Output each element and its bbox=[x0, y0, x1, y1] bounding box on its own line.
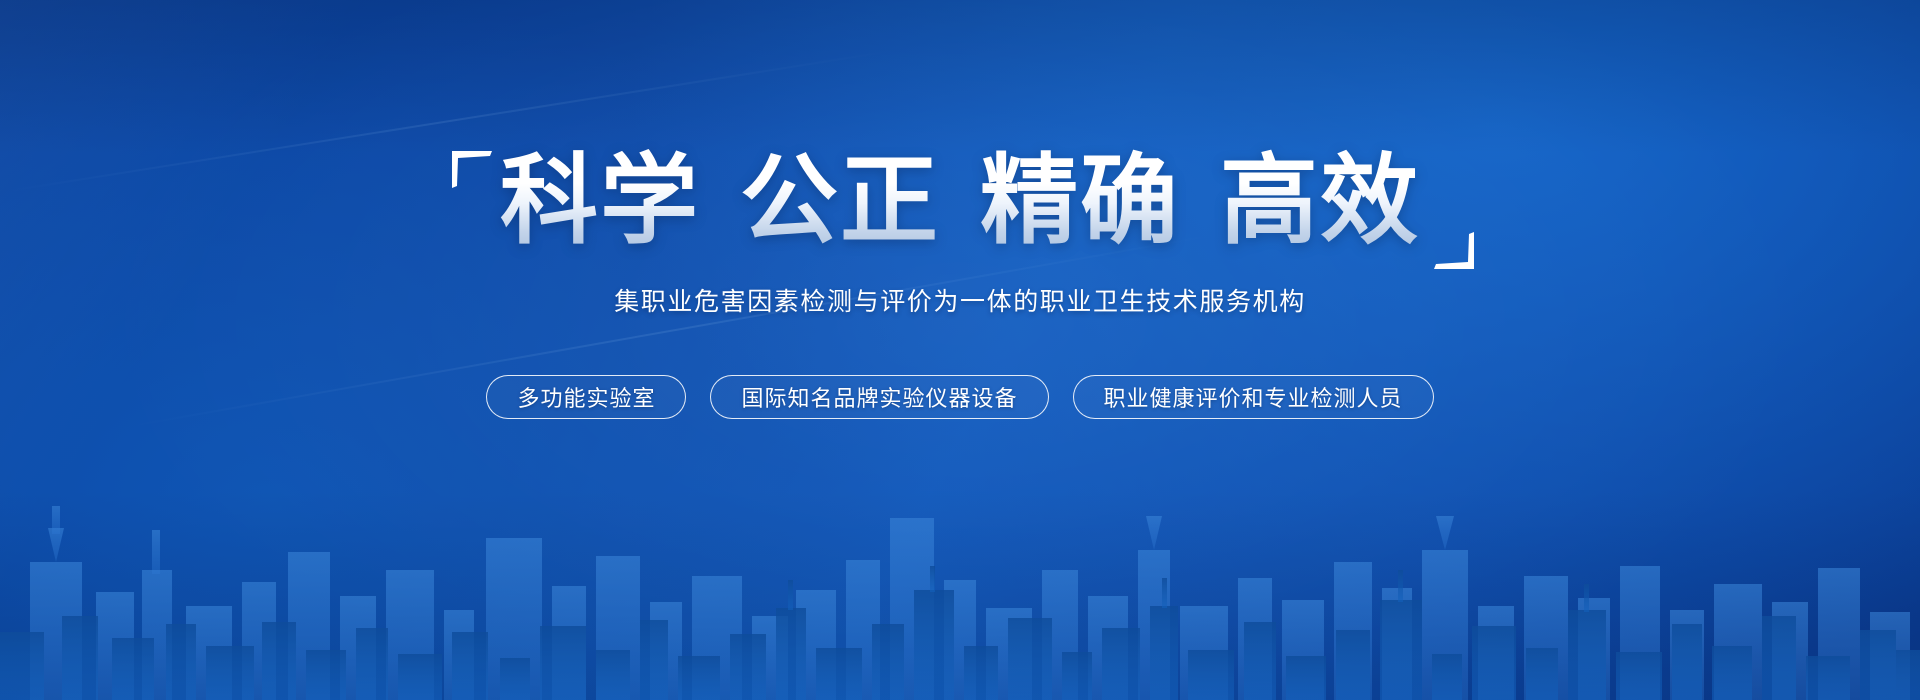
corner-bracket-bottom-right-icon bbox=[1432, 228, 1476, 272]
headline-word-1: 科学 bbox=[500, 145, 700, 255]
feature-pill-group: 多功能实验室 国际知名品牌实验仪器设备 职业健康评价和专业检测人员 bbox=[0, 375, 1920, 419]
page-title: 科学公正精确高效 bbox=[500, 146, 1420, 256]
feature-pill-equipment[interactable]: 国际知名品牌实验仪器设备 bbox=[710, 375, 1048, 419]
banner-content: 科学公正精确高效 集职业危害因素检测与评价为一体的职业卫生技术服务机构 多功能实… bbox=[0, 0, 1920, 700]
hero-banner: 科学公正精确高效 集职业危害因素检测与评价为一体的职业卫生技术服务机构 多功能实… bbox=[0, 0, 1920, 700]
headline-word-2: 公正 bbox=[740, 145, 940, 255]
feature-pill-lab[interactable]: 多功能实验室 bbox=[486, 375, 686, 419]
headline-wrapper: 科学公正精确高效 bbox=[0, 146, 1920, 256]
headline-box: 科学公正精确高效 bbox=[454, 146, 1466, 256]
feature-pill-equipment-label: 国际知名品牌实验仪器设备 bbox=[741, 381, 1017, 413]
feature-pill-lab-label: 多功能实验室 bbox=[517, 381, 655, 413]
corner-bracket-top-left-icon bbox=[450, 148, 494, 192]
headline-word-3: 精确 bbox=[980, 145, 1180, 255]
banner-subtitle: 集职业危害因素检测与评价为一体的职业卫生技术服务机构 bbox=[0, 282, 1920, 318]
feature-pill-personnel[interactable]: 职业健康评价和专业检测人员 bbox=[1073, 375, 1434, 419]
feature-pill-personnel-label: 职业健康评价和专业检测人员 bbox=[1104, 381, 1403, 413]
headline-word-4: 高效 bbox=[1220, 145, 1420, 255]
